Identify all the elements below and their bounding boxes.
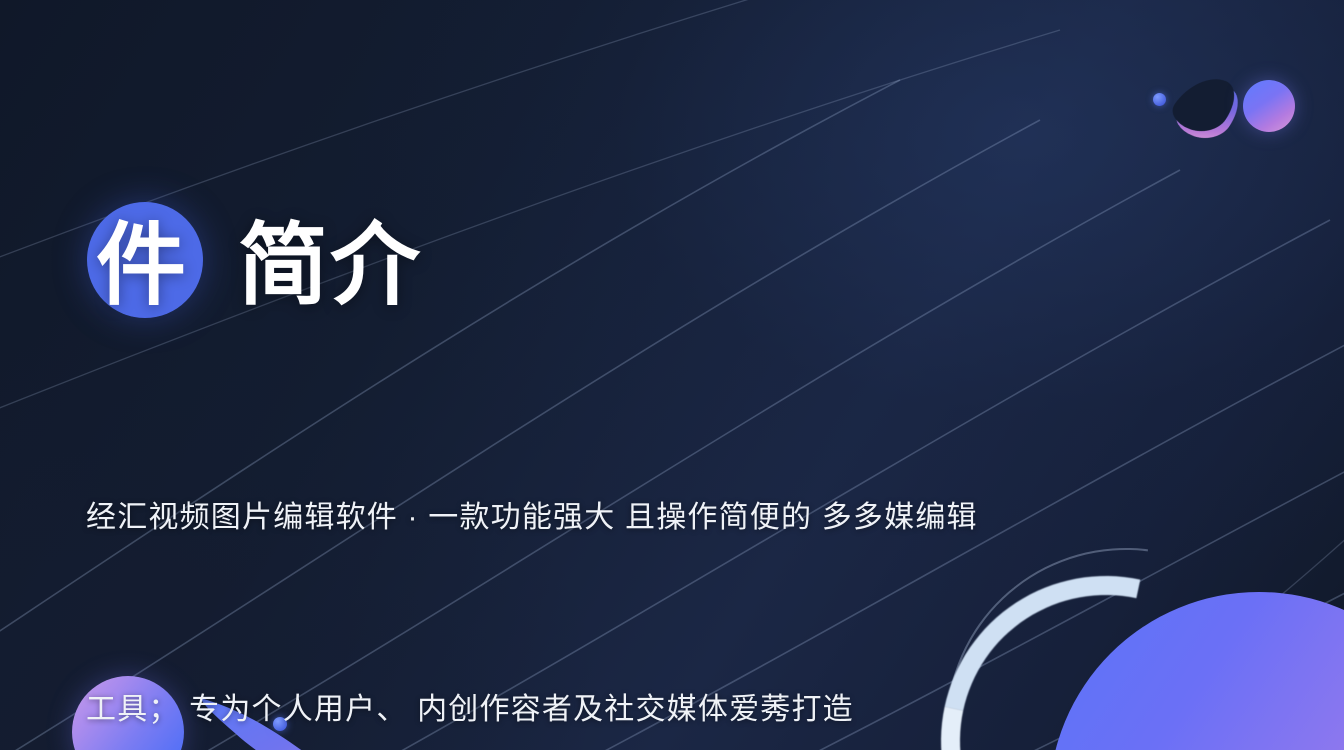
slide-title-row: 件 简介 [86,196,1286,336]
page-title: 件 简介 [86,221,422,311]
title-badge-char: 件 [96,221,188,311]
description-line-1: 经汇视频图片编辑软件 · 一款功能强大 且操作简便的 多多媒编辑 [86,486,1271,550]
top-right-dot-icon [1153,93,1166,106]
description-line-2: 工具； 专为个人用户、 内创作容者及社交媒体爱莠打造 [86,678,1271,742]
slide-content: 件 简介 经汇视频图片编辑软件 · 一款功能强大 且操作简便的 多多媒编辑 工具… [86,196,1286,750]
slide-description: 经汇视频图片编辑软件 · 一款功能强大 且操作简便的 多多媒编辑 工具； 专为个… [86,358,1271,750]
presentation-slide: 件 简介 经汇视频图片编辑软件 · 一款功能强大 且操作简便的 多多媒编辑 工具… [0,0,1344,750]
top-right-sphere-icon [1243,80,1295,132]
title-main-text: 简介 [238,221,422,311]
top-right-comet-icon [1168,77,1249,146]
